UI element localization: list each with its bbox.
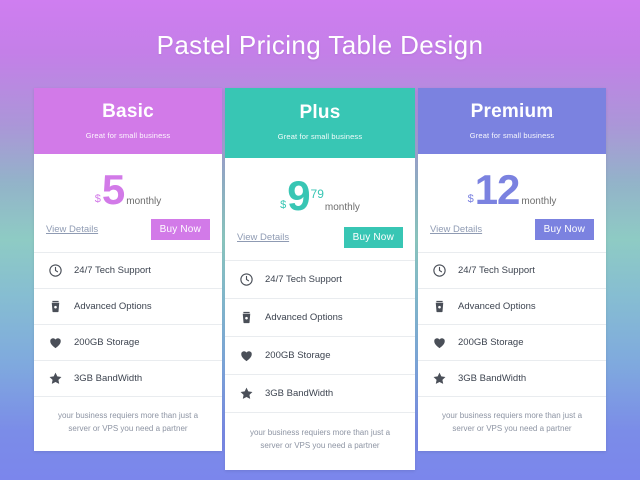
feature-label: 200GB Storage (458, 337, 524, 348)
card-actions: View Details Buy Now (34, 220, 222, 252)
list-item: 3GB BandWidth (34, 360, 222, 396)
card-actions: View Details Buy Now (225, 228, 415, 260)
plan-tagline: Great for small business (233, 132, 407, 141)
feature-label: 200GB Storage (74, 337, 140, 348)
star-icon (239, 386, 254, 401)
price-period: monthly (521, 197, 556, 207)
feature-label: 24/7 Tech Support (265, 274, 342, 285)
star-icon (432, 371, 447, 386)
heart-icon (239, 348, 254, 363)
pricing-cards-container: Basic Great for small business $ 5 month… (34, 88, 606, 470)
list-item: 24/7 Tech Support (34, 252, 222, 288)
view-details-link[interactable]: View Details (237, 232, 289, 243)
list-item: 200GB Storage (34, 324, 222, 360)
pricing-card-basic: Basic Great for small business $ 5 month… (34, 88, 222, 451)
feature-list: 24/7 Tech Support Advanced Options 200GB… (418, 252, 606, 396)
clock-icon (48, 263, 63, 278)
currency-symbol: $ (280, 200, 286, 211)
feature-label: Advanced Options (265, 312, 343, 323)
buy-now-button[interactable]: Buy Now (151, 219, 210, 240)
heart-icon (48, 335, 63, 350)
feature-label: 24/7 Tech Support (458, 265, 535, 276)
page-title: Pastel Pricing Table Design (0, 0, 640, 61)
trash-icon (48, 299, 63, 314)
plan-name: Premium (426, 101, 598, 124)
list-item: 3GB BandWidth (225, 374, 415, 412)
trash-icon (239, 310, 254, 325)
list-item: 3GB BandWidth (418, 360, 606, 396)
card-footer-note: your business requiers more than just a … (34, 396, 222, 451)
card-header: Premium Great for small business (418, 88, 606, 154)
feature-label: 200GB Storage (265, 350, 331, 361)
price-block: $ 5 monthly (34, 154, 222, 220)
card-header: Basic Great for small business (34, 88, 222, 154)
clock-icon (432, 263, 447, 278)
price-block: $ 12 monthly (418, 154, 606, 220)
feature-label: 3GB BandWidth (265, 388, 333, 399)
clock-icon (239, 272, 254, 287)
feature-label: 3GB BandWidth (74, 373, 142, 384)
plan-tagline: Great for small business (426, 131, 598, 140)
currency-symbol: $ (468, 194, 474, 205)
star-icon (48, 371, 63, 386)
price-period: monthly (325, 203, 360, 213)
feature-list: 24/7 Tech Support Advanced Options 200GB… (225, 260, 415, 412)
price-cents: 79 (311, 188, 324, 200)
list-item: Advanced Options (418, 288, 606, 324)
heart-icon (432, 335, 447, 350)
price-amount: 12 (475, 169, 520, 211)
feature-label: Advanced Options (458, 301, 536, 312)
list-item: 200GB Storage (225, 336, 415, 374)
list-item: Advanced Options (34, 288, 222, 324)
list-item: 200GB Storage (418, 324, 606, 360)
list-item: Advanced Options (225, 298, 415, 336)
price-amount: 9 (287, 175, 309, 217)
feature-label: Advanced Options (74, 301, 152, 312)
pricing-card-plus: Plus Great for small business $ 9 79 mon… (225, 88, 415, 470)
trash-icon (432, 299, 447, 314)
buy-now-button[interactable]: Buy Now (344, 227, 403, 248)
view-details-link[interactable]: View Details (46, 224, 98, 235)
plan-tagline: Great for small business (42, 131, 214, 140)
feature-label: 24/7 Tech Support (74, 265, 151, 276)
buy-now-button[interactable]: Buy Now (535, 219, 594, 240)
list-item: 24/7 Tech Support (418, 252, 606, 288)
view-details-link[interactable]: View Details (430, 224, 482, 235)
card-header: Plus Great for small business (225, 88, 415, 158)
price-block: $ 9 79 monthly (225, 158, 415, 228)
price-amount: 5 (102, 169, 124, 211)
plan-name: Plus (233, 102, 407, 125)
pricing-card-premium: Premium Great for small business $ 12 mo… (418, 88, 606, 451)
card-footer-note: your business requiers more than just a … (418, 396, 606, 451)
list-item: 24/7 Tech Support (225, 260, 415, 298)
currency-symbol: $ (95, 194, 101, 205)
price-period: monthly (126, 197, 161, 207)
feature-list: 24/7 Tech Support Advanced Options 200GB… (34, 252, 222, 396)
plan-name: Basic (42, 101, 214, 124)
feature-label: 3GB BandWidth (458, 373, 526, 384)
card-actions: View Details Buy Now (418, 220, 606, 252)
template-credit: Template by w3layouts (0, 457, 640, 467)
